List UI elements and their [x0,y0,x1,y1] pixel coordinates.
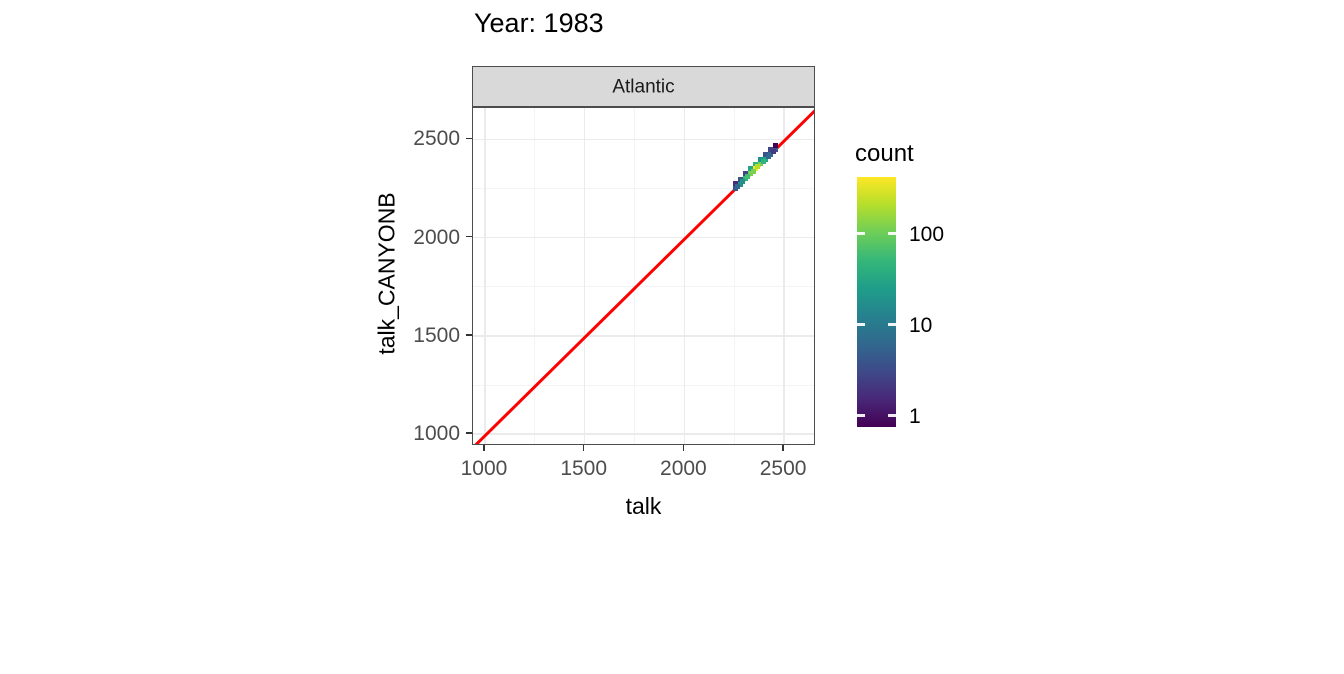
y-minor-gridline [473,188,814,189]
y-major-gridline [473,139,814,141]
legend-tick-mark [888,232,896,235]
y-axis-tick-label: 2000 [413,227,460,248]
x-minor-gridline [734,108,735,444]
facet-strip: Atlantic [472,66,815,107]
plot-panel [472,107,815,445]
legend-tick-mark [857,323,865,326]
bin-tile [761,159,766,164]
y-major-gridline [473,433,814,435]
page-title: Year: 1983 [474,10,604,37]
facet-strip-label: Atlantic [473,77,814,96]
x-axis-tick [782,445,784,451]
bin-tile [766,154,771,159]
legend-tick-mark [857,414,865,417]
x-axis-tick-label: 2500 [723,458,843,479]
bin-tile [751,169,756,174]
y-axis-tick-label: 1500 [413,325,460,346]
y-axis-title: talk_CANYONB [376,0,399,674]
y-axis-tick-label: 1000 [413,423,460,444]
panel-contents [473,108,814,444]
bin-tile [773,143,778,148]
y-axis-tick [466,236,472,238]
y-axis-tick [466,432,472,434]
x-axis-tick [583,445,585,451]
x-major-gridline [783,108,785,444]
legend-colorbar [857,177,896,427]
x-major-gridline [684,108,686,444]
x-axis-title: talk [472,495,815,518]
legend-tick-mark [888,323,896,326]
y-minor-gridline [473,286,814,287]
legend-tick-label: 100 [909,224,944,245]
legend-tick-label: 10 [909,315,932,336]
x-major-gridline [584,108,586,444]
y-axis-tick-label: 2500 [413,128,460,149]
legend-tick-label: 1 [909,406,921,427]
bin-tile [755,164,760,169]
x-axis-tick [683,445,685,451]
y-major-gridline [473,237,814,239]
y-minor-gridline [473,385,814,386]
y-axis-tick [466,138,472,140]
bin-tile [771,149,776,154]
x-major-gridline [484,108,486,444]
ggplot-figure: Year: 1983 Atlantic 10001500200025001000… [0,0,1344,537]
bin-tile [745,174,750,179]
y-axis-tick [466,334,472,336]
y-major-gridline [473,335,814,337]
x-minor-gridline [534,108,535,444]
legend-tick-mark [888,414,896,417]
legend-tick-mark [857,232,865,235]
legend-title: count [855,142,914,166]
bin-tile [740,179,745,184]
bin-tile [735,184,740,189]
x-minor-gridline [634,108,635,444]
x-axis-tick [483,445,485,451]
